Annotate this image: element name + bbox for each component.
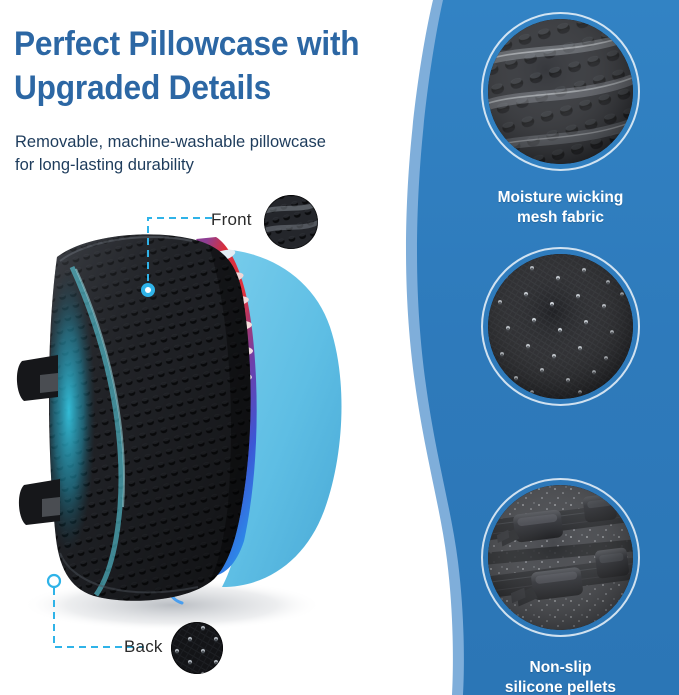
callout-adjustable-elastic-straps: 2 adjustable extended elastic straps [481,478,640,637]
strap-clip-upper [17,355,58,401]
caption-line-2: mesh fabric [481,208,640,228]
front-label: Front [211,210,252,230]
page-subtitle: Removable, machine-washable pillowcase f… [15,131,385,177]
silicone-pellet-swatch [171,622,223,674]
elastic-straps-closeup [488,485,633,630]
caption-line-1: Moisture wicking [481,188,640,208]
mesh-fabric-closeup [488,19,633,164]
strap-clip-lower [19,479,60,525]
callout-non-slip-silicone-pellets: Non-slip silicone pellets [481,247,640,406]
infographic-canvas: Perfect Pillowcase with Upgraded Details… [0,0,679,695]
callout-caption: Non-slip silicone pellets [481,658,640,695]
subtitle-line-2: for long-lasting durability [15,154,385,177]
caption-line-1: Non-slip [481,658,640,678]
front-leader-line [138,210,220,300]
callout-moisture-wicking-mesh-fabric: Moisture wicking mesh fabric [481,12,640,171]
callout-caption: Moisture wicking mesh fabric [481,188,640,228]
back-label: Back [124,637,163,657]
caption-line-2: silicone pellets [481,678,640,695]
subtitle-line-1: Removable, machine-washable pillowcase [15,131,385,154]
mesh-fabric-swatch [264,195,318,249]
title-line-1: Perfect Pillowcase with [14,22,386,66]
silicone-pellets-closeup [488,254,633,399]
title-line-2: Upgraded Details [14,66,386,110]
page-title: Perfect Pillowcase with Upgraded Details [14,22,386,110]
